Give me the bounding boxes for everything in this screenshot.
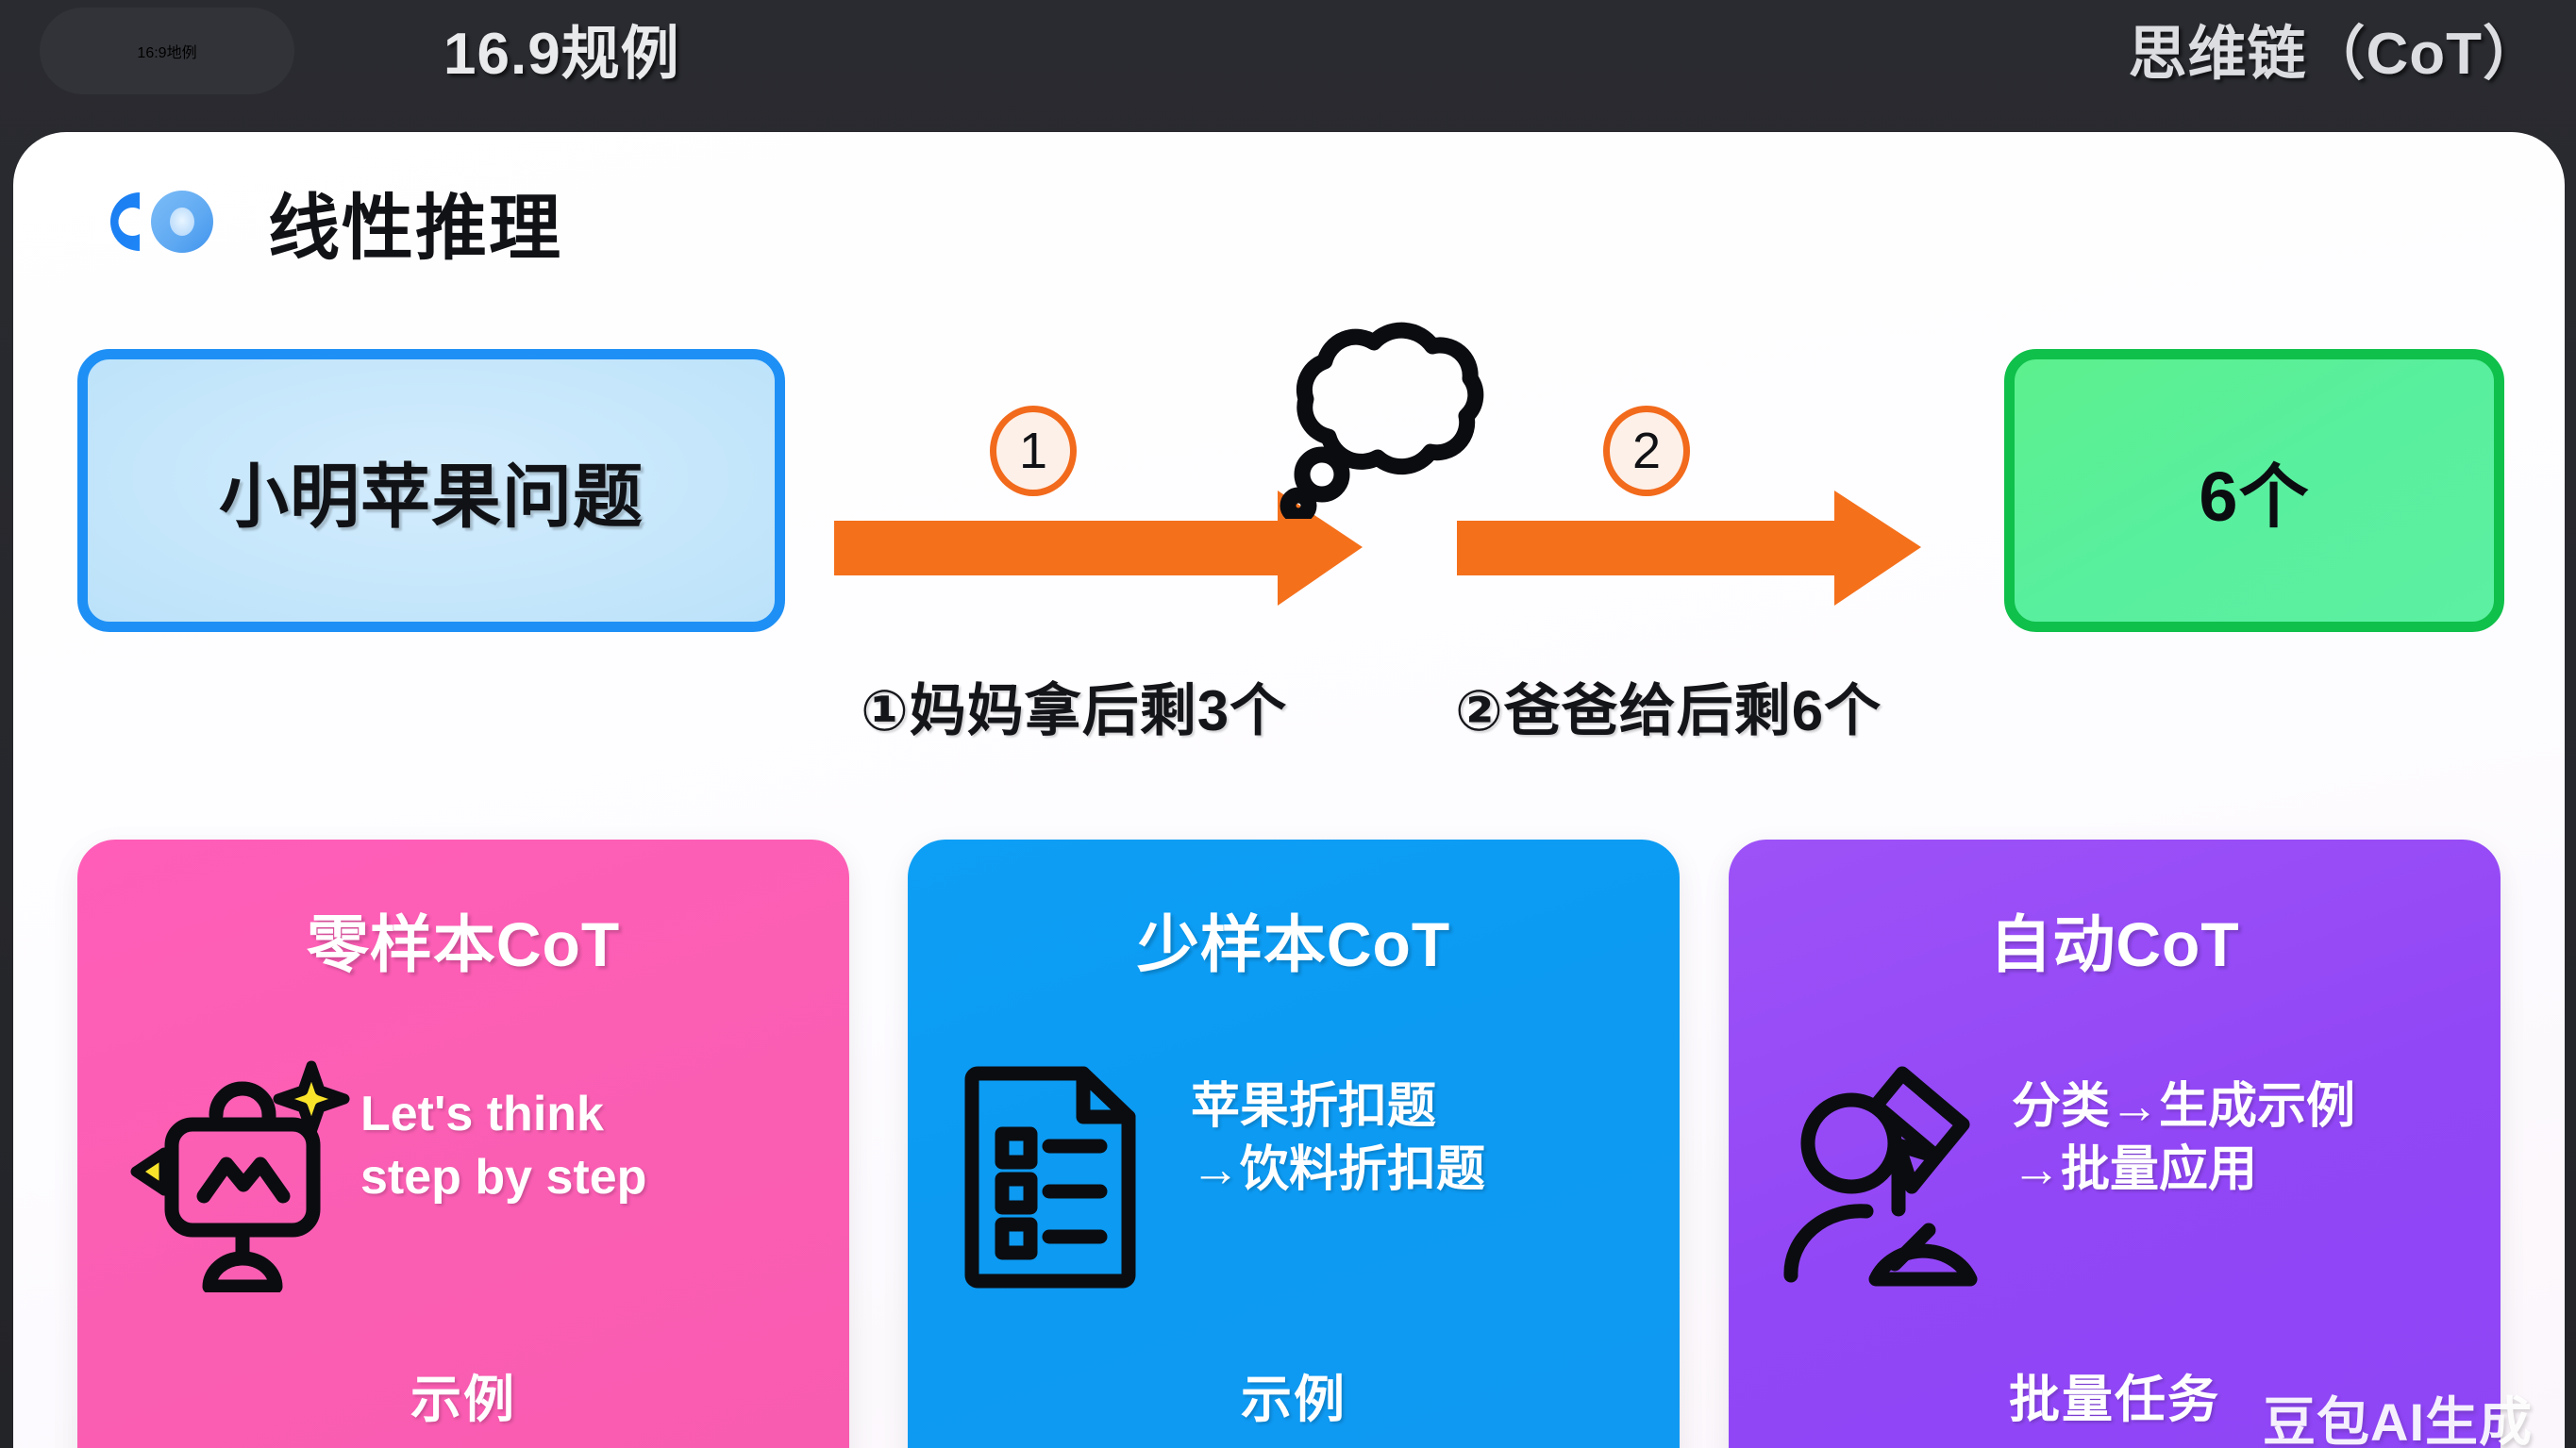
flow-step-caption-1: ①妈妈拿后剩3个 xyxy=(861,665,1287,747)
method-card-auto-title: 自动CoT xyxy=(1729,894,2501,985)
flow-step-badge-1-number: 1 xyxy=(1019,425,1047,476)
method-card-few-shot[interactable]: 少样本CoT xyxy=(908,840,1680,1448)
watermark: 豆包AI生成 xyxy=(2263,1380,2533,1448)
card-header: 线性推理 xyxy=(91,170,562,274)
document-checklist-icon xyxy=(957,1057,1174,1297)
method-card-auto[interactable]: 自动CoT 分类→生 xyxy=(1729,840,2501,1448)
user-edit-pencil-icon xyxy=(1778,1057,2004,1297)
method-card-few-shot-title: 少样本CoT xyxy=(908,894,1680,985)
method-card-auto-desc: 分类→生成示例 →批量应用 xyxy=(2012,1075,2474,1201)
flow-step-caption-2: ②爸爸给后剩6个 xyxy=(1455,665,1882,747)
method-card-zero-shot-title: 零样本CoT xyxy=(77,894,849,985)
method-card-zero-shot[interactable]: 零样本CoT Let's t xyxy=(77,840,849,1448)
method-card-auto-desc-line2: →批量应用 xyxy=(2012,1139,2474,1202)
method-card-few-shot-desc-line2: →饮料折扣题 xyxy=(1191,1139,1653,1202)
co-logo-icon xyxy=(91,181,223,262)
method-card-zero-shot-desc-line1: Let's think xyxy=(360,1087,604,1141)
method-card-zero-shot-desc-line2: step by step xyxy=(360,1146,823,1209)
method-card-zero-shot-desc: Let's think step by step xyxy=(360,1083,823,1208)
method-card-few-shot-tag: 示例 xyxy=(908,1357,1680,1432)
slide-root: 16:9地例 16.9规例 思维链（CoT） xyxy=(0,0,2576,1448)
method-card-zero-shot-tag: 示例 xyxy=(77,1357,849,1432)
flow-step-badge-1: 1 xyxy=(990,406,1077,496)
flow-problem-box: 小明苹果问题 xyxy=(77,349,785,632)
method-card-few-shot-desc-line1: 苹果折扣题 xyxy=(1191,1079,1436,1134)
presentation-board-sparkle-icon xyxy=(126,1057,353,1297)
section-title: 线性推理 xyxy=(268,170,562,274)
method-card-auto-desc-line1: 分类→生成示例 xyxy=(2012,1079,2355,1134)
flow-problem-label: 小明苹果问题 xyxy=(219,441,644,541)
flow-step-badge-2-number: 2 xyxy=(1632,425,1661,476)
flow-result-box: 6个 xyxy=(2004,349,2504,632)
flow-arrow-2 xyxy=(1457,311,1985,623)
flow-result-label: 6个 xyxy=(2199,441,2309,541)
aspect-ratio-badge-label: 16:9地例 xyxy=(137,40,196,62)
method-card-few-shot-desc: 苹果折扣题 →饮料折扣题 xyxy=(1191,1075,1653,1201)
top-bar: 16:9地例 16.9规例 思维链（CoT） xyxy=(0,0,2576,106)
content-card: 线性推理 小明苹果问题 xyxy=(13,132,2565,1448)
flow-step-badge-2: 2 xyxy=(1603,406,1690,496)
thought-bubble-icon xyxy=(1251,302,1506,524)
method-cards-row: 零样本CoT Let's t xyxy=(13,840,2565,1448)
flow-diagram: 小明苹果问题 xyxy=(13,311,2565,802)
spec-label: 16.9规例 xyxy=(443,6,680,91)
topic-title: 思维链（CoT） xyxy=(2128,6,2542,91)
aspect-ratio-badge: 16:9地例 xyxy=(40,8,294,94)
